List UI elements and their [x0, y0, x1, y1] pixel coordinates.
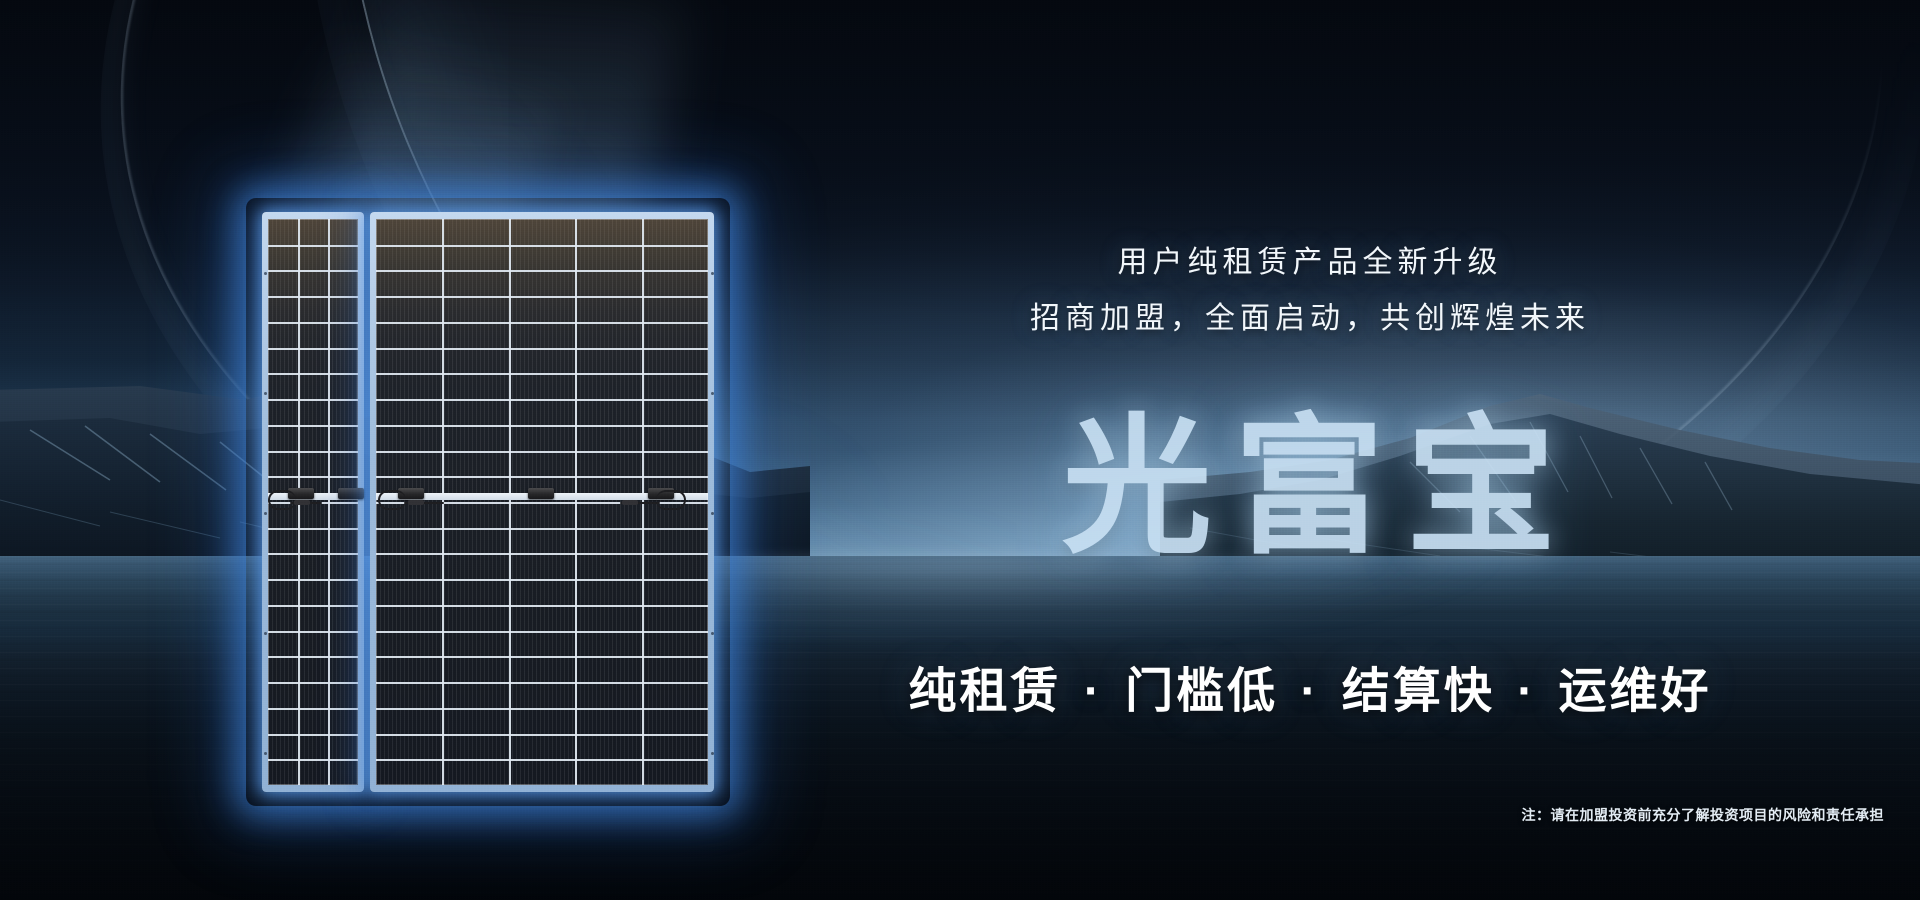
- cell-column-line: [509, 219, 511, 785]
- frame-screw: [711, 272, 714, 275]
- frame-screw: [711, 392, 714, 395]
- poster-canvas: 用户纯租赁产品全新升级 招商加盟，全面启动，共创辉煌未来 光富宝 纯租赁 · 门…: [0, 0, 1920, 900]
- slogan-item-1: 纯租赁: [908, 665, 1061, 718]
- slogan-separator: ·: [1295, 665, 1326, 718]
- frame-screw: [264, 512, 267, 515]
- slogan-separator: ·: [1078, 665, 1109, 718]
- junction-box: [338, 488, 364, 499]
- slogan-item-2: 门槛低: [1125, 665, 1278, 718]
- cell-column-line: [328, 219, 330, 785]
- slogan-separator: ·: [1511, 665, 1542, 718]
- cable-loop: [656, 490, 686, 510]
- frame-screw: [711, 512, 714, 515]
- headline-line-2: 招商加盟，全面启动，共创辉煌未来: [940, 304, 1680, 334]
- frame-screw: [264, 752, 267, 755]
- cable-loop: [378, 490, 406, 510]
- cable-connector: [622, 500, 638, 505]
- frame-screw: [264, 392, 267, 395]
- cell-column-line: [575, 219, 577, 785]
- slogan-item-4: 运维好: [1559, 665, 1712, 718]
- cable-connector: [408, 500, 424, 505]
- headline-block: 用户纯租赁产品全新升级 招商加盟，全面启动，共创辉煌未来: [940, 248, 1680, 334]
- solar-panel-right[interactable]: [370, 212, 714, 792]
- solar-panel-assembly[interactable]: [262, 212, 714, 792]
- footnote-disclaimer: 注：请在加盟投资前充分了解投资项目的风险和责任承担: [1522, 808, 1885, 822]
- solar-panel-left[interactable]: [262, 212, 364, 792]
- frame-screw: [711, 632, 714, 635]
- slogan: 纯租赁 · 门槛低 · 结算快 · 运维好: [860, 668, 1760, 716]
- frame-screw: [264, 272, 267, 275]
- brand-name: 光富宝: [980, 412, 1660, 562]
- cable-loop: [268, 490, 296, 510]
- junction-box: [528, 488, 554, 499]
- headline-line-1: 用户纯租赁产品全新升级: [940, 248, 1680, 278]
- frame-screw: [711, 752, 714, 755]
- cable-connector: [294, 500, 310, 505]
- frame-screw: [264, 632, 267, 635]
- slogan-item-3: 结算快: [1342, 665, 1495, 718]
